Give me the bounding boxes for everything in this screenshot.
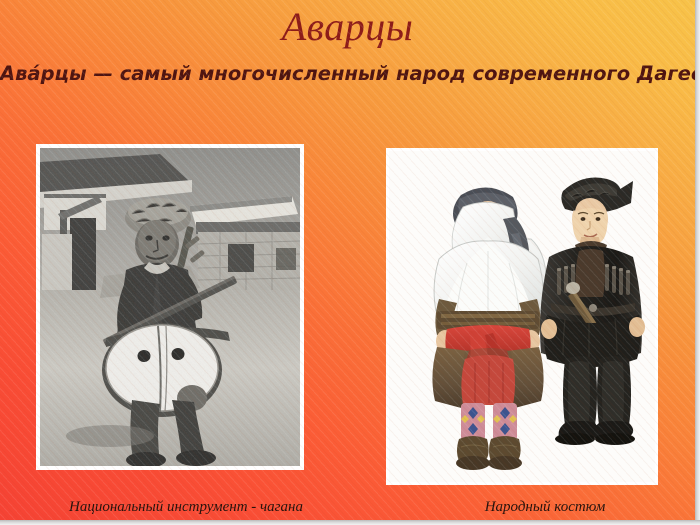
costume-illustration-artwork	[389, 151, 655, 482]
chagana-photo	[36, 144, 304, 470]
slide: Аварцы Ава́рцы — самый многочисленный на…	[0, 0, 700, 525]
slide-frame-bottom	[0, 520, 700, 525]
subtitle-text: Ава́рцы — самый многочисленный народ сов…	[0, 62, 695, 86]
caption-chagana: Национальный инструмент - чагана	[36, 498, 336, 516]
chagana-photo-artwork	[40, 148, 300, 466]
page-title: Аварцы	[0, 4, 695, 50]
costume-illustration	[386, 148, 658, 485]
caption-costume: Народный костюм	[420, 498, 670, 516]
slide-frame-right	[695, 0, 700, 525]
